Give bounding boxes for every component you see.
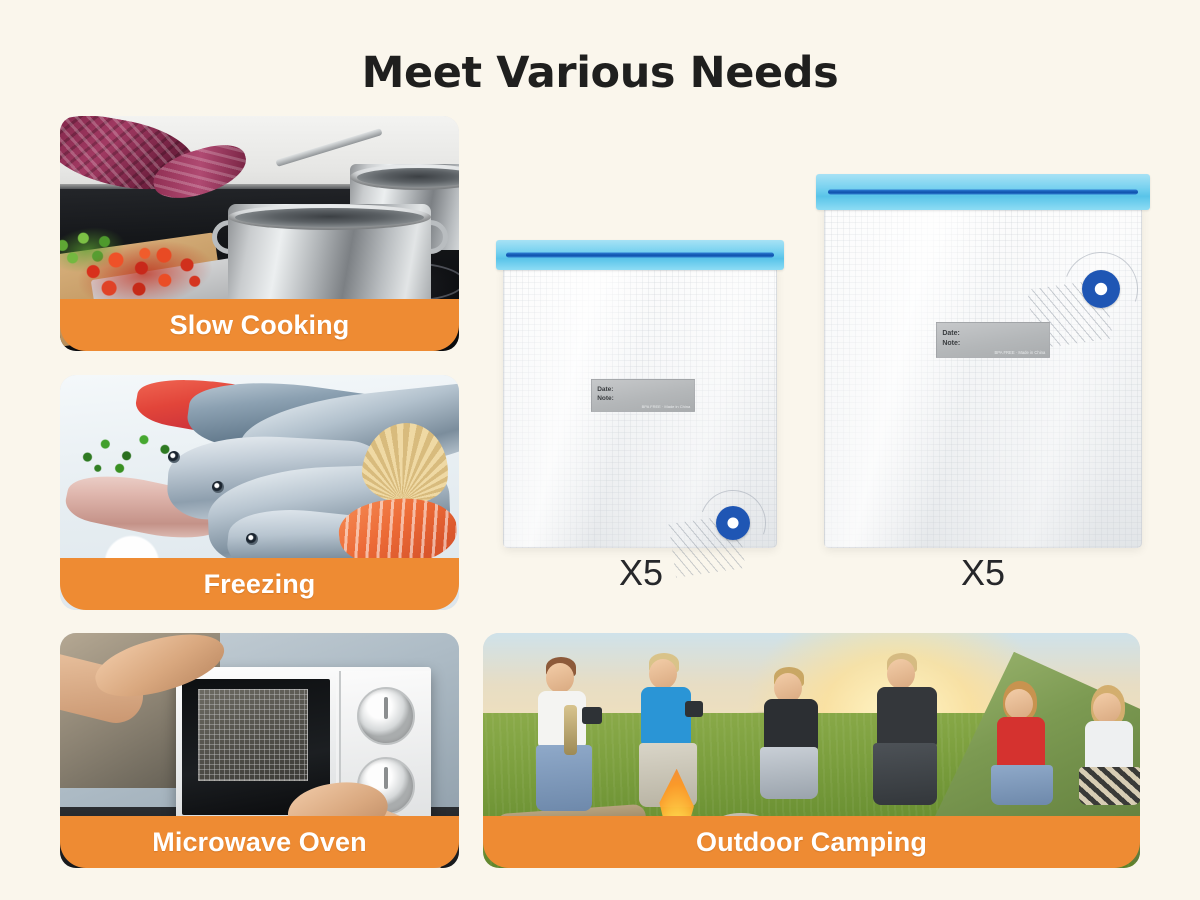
page-title: Meet Various Needs	[0, 48, 1200, 98]
bag-zipper-large	[816, 174, 1150, 210]
label-note-text: Note:	[597, 395, 614, 402]
product-vacuum-bag-large: Date: Note: BPA FREE · Made in China	[816, 174, 1150, 548]
card-label-slow-cooking: Slow Cooking	[60, 299, 459, 351]
legs	[536, 745, 592, 811]
bag-count-small: X5	[556, 552, 726, 594]
infographic-page: Meet Various Needs	[0, 0, 1200, 900]
fish-eye	[212, 481, 224, 493]
bag-body-large: Date: Note: BPA FREE · Made in China	[824, 206, 1141, 548]
legs	[1079, 767, 1140, 805]
cup	[582, 707, 602, 724]
vacuum-valve-small	[716, 506, 750, 540]
torso	[877, 687, 937, 747]
cup	[685, 701, 703, 717]
head	[546, 663, 574, 693]
thermos-flask	[564, 705, 577, 755]
torso	[1085, 721, 1133, 771]
head	[649, 659, 677, 689]
label-fine-print: BPA FREE · Made in China	[994, 350, 1045, 355]
card-label-outdoor-camping: Outdoor Camping	[483, 816, 1140, 868]
torso	[764, 699, 818, 751]
bag-write-on-label-small: Date: Note: BPA FREE · Made in China	[591, 379, 695, 412]
bag-write-on-label-large: Date: Note: BPA FREE · Made in China	[936, 322, 1050, 358]
card-label-freezing: Freezing	[60, 558, 459, 610]
bag-zipper-small	[496, 240, 784, 270]
microwave-mesh-screen	[198, 689, 308, 781]
legs	[873, 743, 937, 805]
label-fine-print: BPA FREE · Made in China	[642, 404, 691, 409]
label-note-text: Note:	[942, 340, 960, 347]
head	[1005, 689, 1033, 719]
card-label-microwave-oven: Microwave Oven	[60, 816, 459, 868]
feature-card-freezing: Freezing	[60, 375, 459, 610]
head	[887, 659, 915, 689]
bag-count-large: X5	[898, 552, 1068, 594]
microwave-power-dial	[357, 687, 415, 745]
feature-card-microwave-oven: Microwave Oven	[60, 633, 459, 868]
pot-interior	[235, 208, 424, 227]
feature-card-outdoor-camping: Outdoor Camping	[483, 633, 1140, 868]
torso	[641, 687, 691, 745]
label-date-text: Date:	[942, 330, 960, 337]
legs	[760, 747, 818, 799]
fish-eye	[168, 451, 180, 463]
bag-body-small: Date: Note: BPA FREE · Made in China	[503, 267, 777, 548]
feature-card-slow-cooking: Slow Cooking	[60, 116, 459, 351]
fish-eye	[246, 533, 258, 545]
torso	[538, 691, 586, 747]
torso	[997, 717, 1045, 769]
legs	[991, 765, 1053, 805]
label-date-text: Date:	[597, 386, 613, 393]
product-vacuum-bag-small: Date: Note: BPA FREE · Made in China	[496, 240, 784, 548]
